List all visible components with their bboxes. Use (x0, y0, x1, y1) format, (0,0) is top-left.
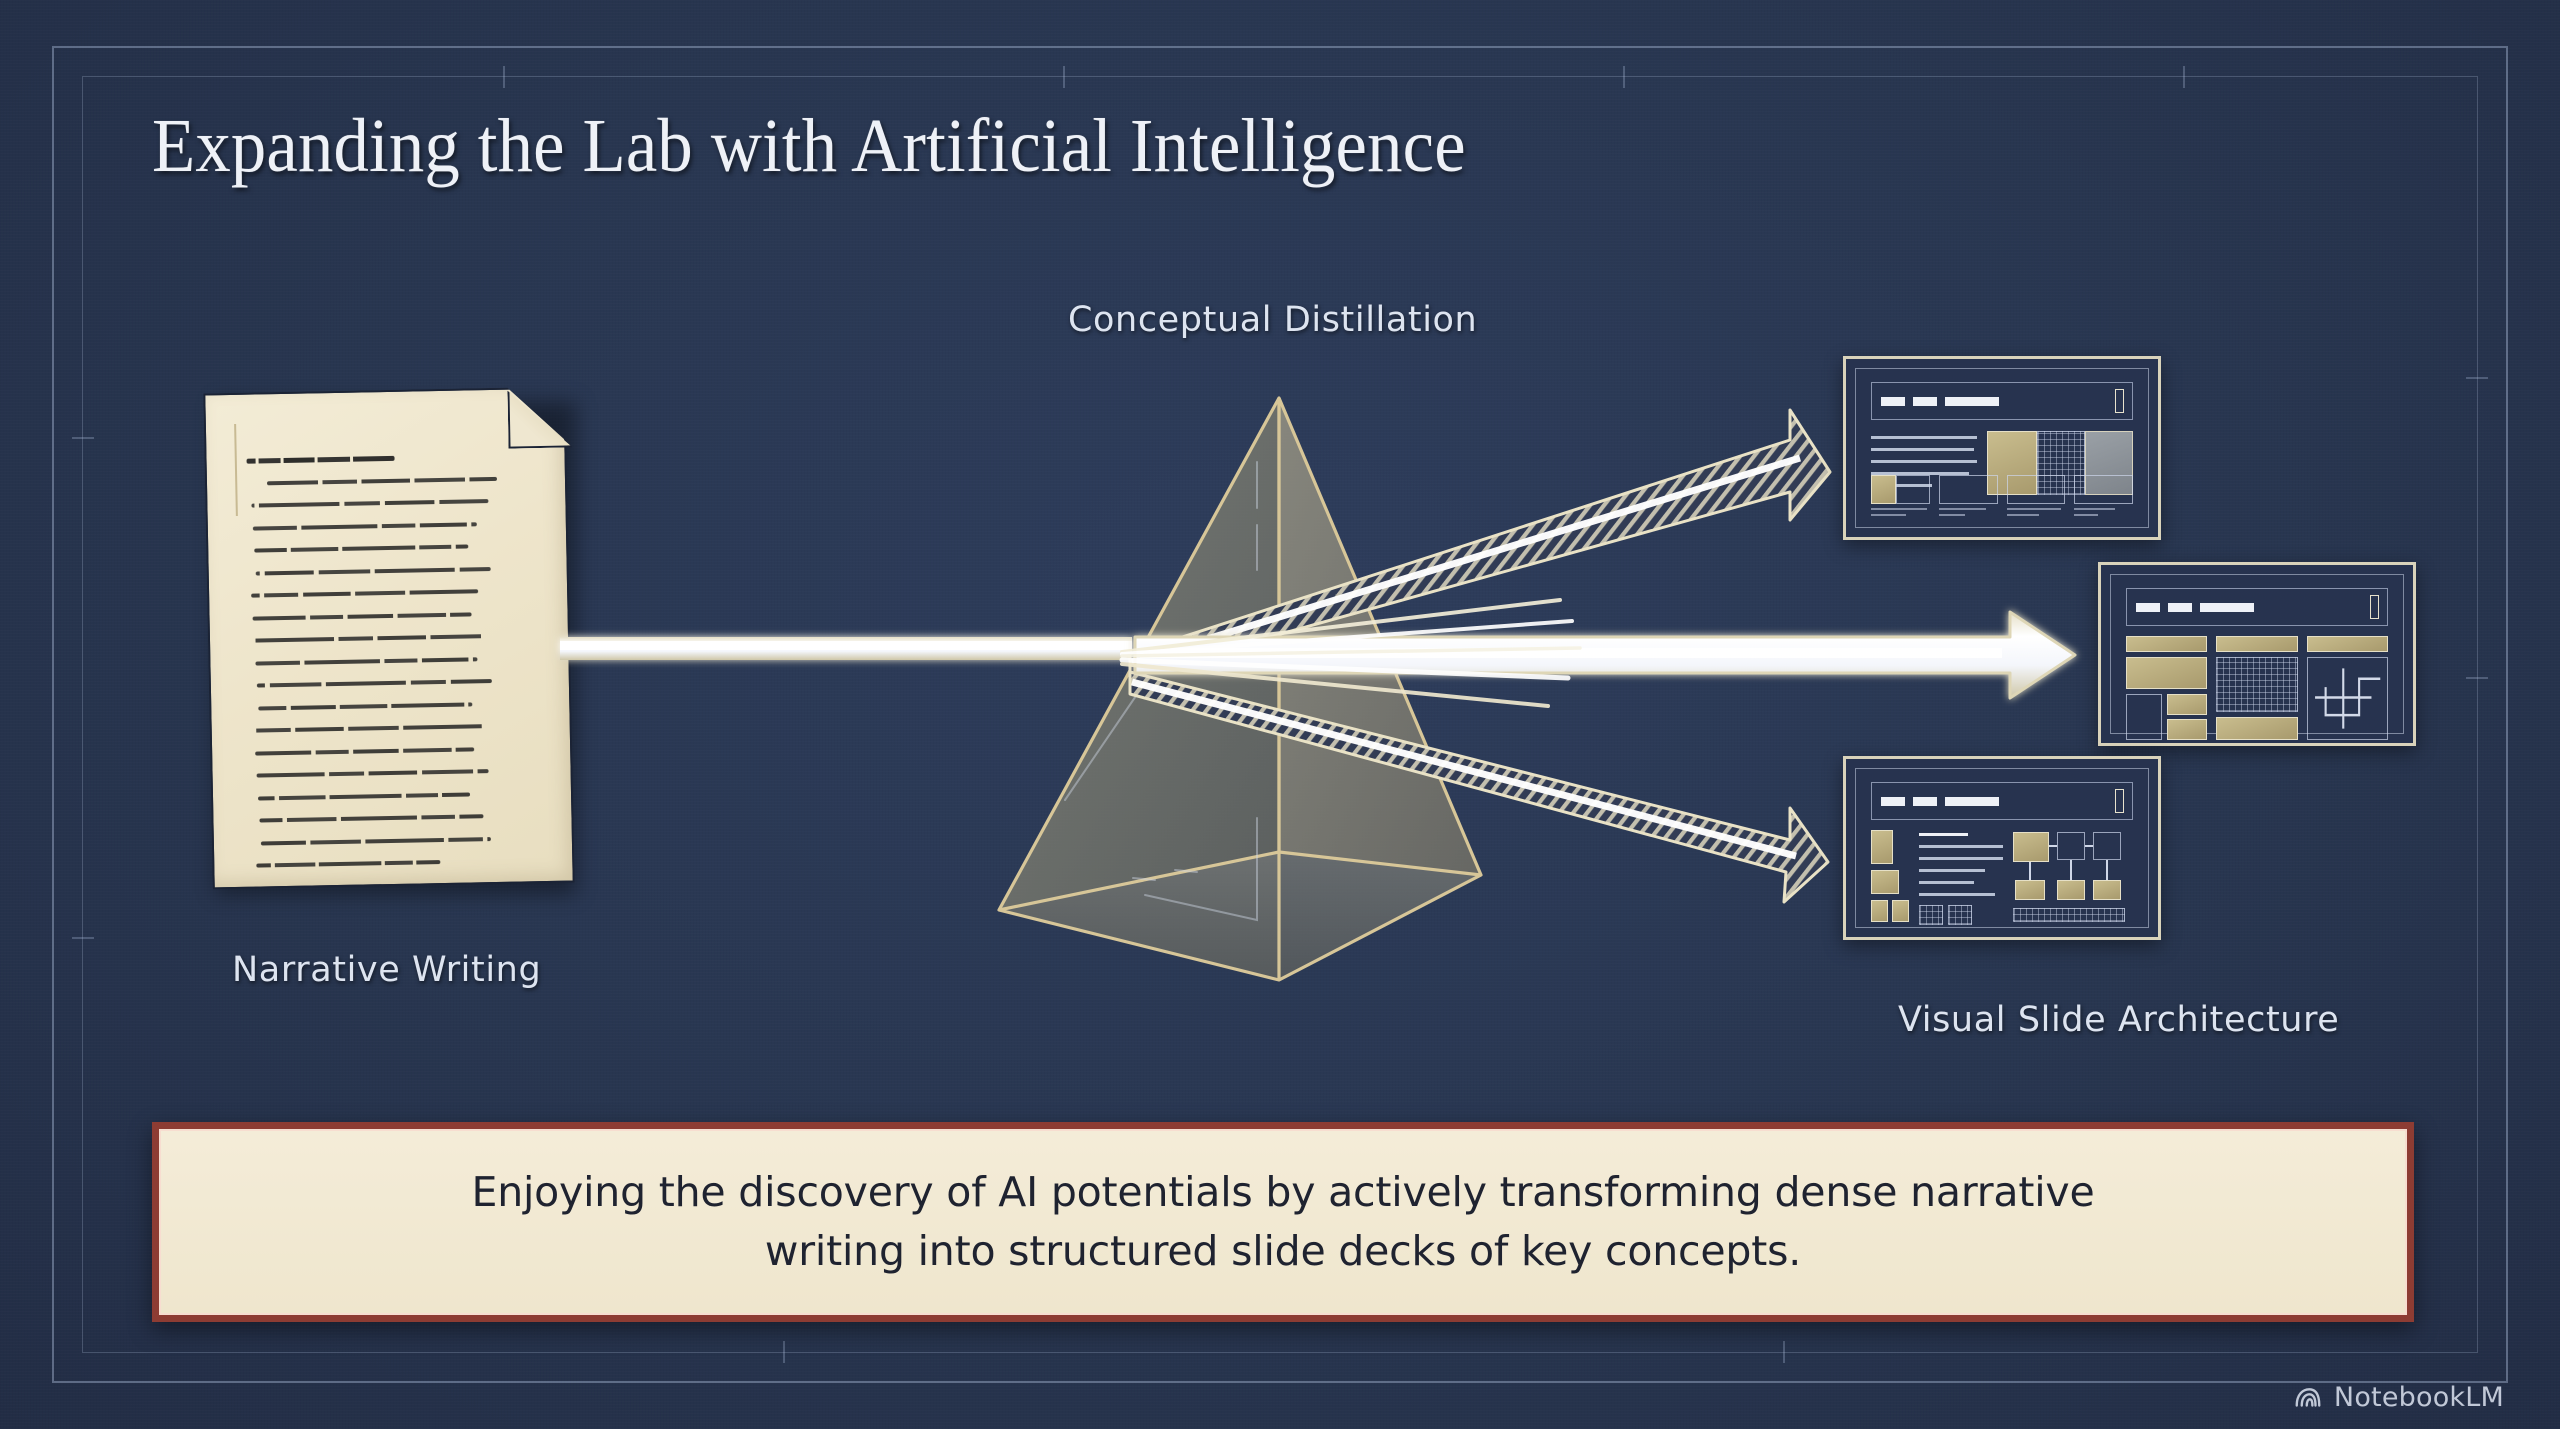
handwriting-line (254, 724, 484, 732)
label-conceptual-distillation: Conceptual Distillation (1068, 300, 1477, 340)
mockup-title-bar (1871, 782, 2133, 820)
handwriting-line (258, 702, 472, 710)
frame-tick (503, 66, 505, 88)
handwriting-line (259, 814, 483, 822)
frame-tick (2183, 66, 2185, 88)
handwriting-line (255, 657, 477, 665)
document-handwriting-lines (203, 387, 574, 890)
handwriting-line (258, 792, 470, 800)
caption-text: Enjoying the discovery of AI potentials … (471, 1163, 2094, 1282)
label-visual-slide-architecture: Visual Slide Architecture (1898, 1000, 2339, 1040)
handwriting-line (253, 522, 477, 530)
slide-mockup-bottom (1843, 756, 2161, 940)
mockup-thumbnail-row (1871, 475, 2133, 516)
slide-mockup-top (1843, 356, 2161, 540)
handwriting-line (267, 476, 497, 484)
mockup-title-bar (1871, 382, 2133, 420)
mockup-diagram-icon (2308, 658, 2387, 739)
frame-tick (1063, 66, 1065, 88)
mockup-title-bar (2126, 588, 2388, 626)
frame-tick (72, 937, 94, 939)
page-title: Expanding the Lab with Artificial Intell… (152, 106, 1466, 187)
handwriting-line (253, 612, 472, 620)
mockup-three-columns (2126, 636, 2388, 740)
caption-box: Enjoying the discovery of AI potentials … (152, 1122, 2414, 1322)
slide-mockup-middle (2098, 562, 2416, 746)
frame-tick (1783, 1341, 1785, 1363)
conceptual-distillation-prism (985, 380, 1585, 1005)
mockup-side-blocks (1871, 830, 1909, 934)
handwriting-line (254, 544, 468, 552)
slide-canvas: Expanding the Lab with Artificial Intell… (0, 0, 2560, 1429)
mockup-flow-connectors (2013, 830, 2133, 934)
handwriting-line (247, 456, 395, 464)
notebooklm-watermark-text: NotebookLM (2334, 1382, 2504, 1413)
handwriting-line (255, 747, 474, 755)
frame-tick (2466, 377, 2488, 379)
frame-tick (1623, 66, 1625, 88)
frame-tick (783, 1341, 785, 1363)
narrative-document-illustration (208, 390, 580, 895)
handwriting-line (256, 860, 440, 868)
frame-tick (2466, 677, 2488, 679)
caption-line-1: Enjoying the discovery of AI potentials … (471, 1168, 2094, 1216)
mockup-text-column (1919, 830, 2003, 934)
handwriting-line (261, 837, 491, 845)
handwriting-line (251, 589, 478, 597)
handwriting-line (254, 634, 484, 642)
label-narrative-writing: Narrative Writing (232, 950, 541, 990)
handwriting-line (256, 567, 491, 576)
mockup-flow-diagram (2013, 830, 2133, 934)
caption-line-2: writing into structured slide decks of k… (765, 1227, 1801, 1275)
notebooklm-spiral-icon (2293, 1383, 2323, 1413)
handwriting-line (251, 499, 488, 508)
handwriting-line (257, 769, 489, 777)
notebooklm-watermark: NotebookLM (2293, 1382, 2504, 1413)
frame-tick (72, 437, 94, 439)
handwriting-line (257, 679, 492, 688)
